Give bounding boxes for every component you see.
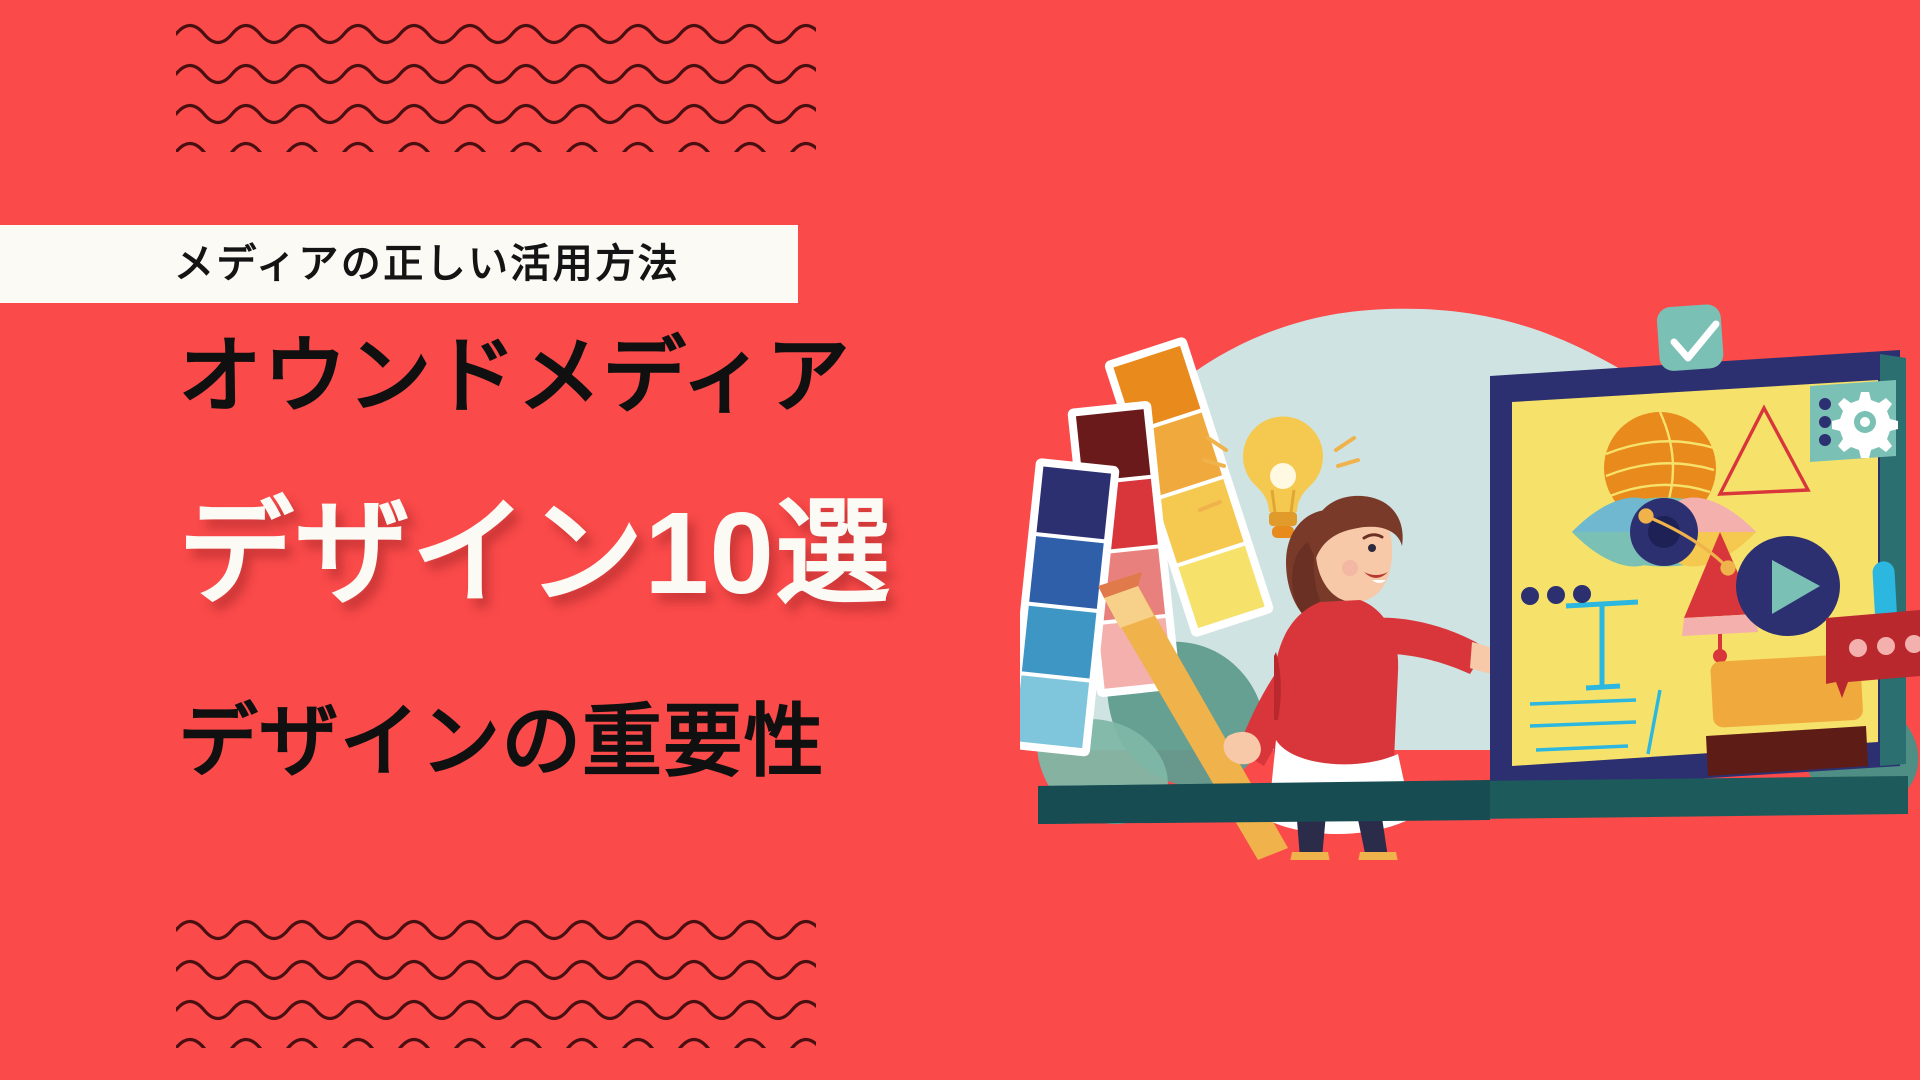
gear-panel (1810, 380, 1898, 462)
checkmark-badge (1656, 304, 1724, 372)
play-button-icon (1736, 536, 1840, 636)
title-line-3: デザインの重要性 (178, 702, 824, 782)
title-line-2: デザイン10選 (178, 495, 891, 611)
eyebrow-text: メディアの正しい活用方法 (174, 244, 680, 284)
eyebrow-band: メディアの正しい活用方法 (0, 225, 798, 303)
dots-row-icon-2 (1573, 585, 1591, 603)
banner-canvas: メディアの正しい活用方法 オウンドメディア デザイン10選 デザインの重要性 (0, 0, 1920, 1080)
title-line-1: オウンドメディア (178, 334, 851, 418)
designer-with-tablet-illustration (1020, 280, 1920, 860)
gear-icon (1832, 392, 1898, 458)
headline-block: メディアの正しい活用方法 オウンドメディア デザイン10選 デザインの重要性 (0, 0, 1080, 1080)
dots-menu-icon (1819, 398, 1831, 446)
